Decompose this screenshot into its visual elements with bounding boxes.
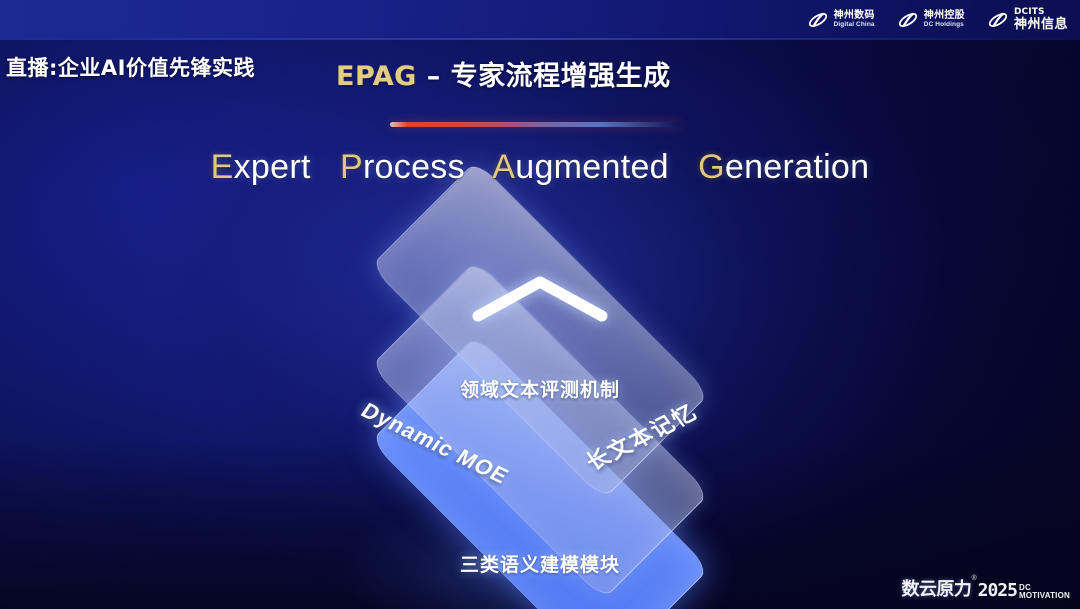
title-chinese: 专家流程增强生成 xyxy=(451,61,671,92)
partner-logo-dc-holdings: 神州控股 DC Holdings xyxy=(897,9,965,31)
watermark-name-cn: 数云原力 xyxy=(901,575,971,601)
subtitle-rest-a: ugmented xyxy=(515,148,669,186)
subtitle-cap-e: E xyxy=(211,148,234,186)
swirl-icon xyxy=(897,9,919,31)
subtitle-word-4: Generation xyxy=(698,148,869,186)
watermark-registered-mark: ® xyxy=(971,575,976,582)
layer-label-top: 领域文本评测机制 xyxy=(460,375,620,402)
watermark-dc-motivation: DC MOTIVATION xyxy=(1019,584,1070,600)
partner-logo-dcits: DCITS 神州信息 xyxy=(987,8,1068,31)
subtitle-cap-g: G xyxy=(698,148,725,186)
page-title: EPAG – 专家流程增强生成 xyxy=(336,54,671,93)
partner-name-en: Digital China xyxy=(834,22,875,29)
title-acronym: EPAG xyxy=(336,61,417,92)
partner-logo-digital-china: 神州数码 Digital China xyxy=(807,9,875,31)
partner-name-cn: 神州信息 xyxy=(1014,18,1068,32)
partner-logo-group: 神州数码 Digital China 神州控股 DC Holdings xyxy=(807,6,1068,34)
chevron-up-icon xyxy=(470,272,610,324)
title-divider xyxy=(390,122,680,127)
slide-canvas: 领域文本评测机制 Dynamic MOE 长文本记忆 三类语义建模模块 Expe… xyxy=(0,0,1080,609)
subtitle-rest-g: eneration xyxy=(725,148,869,186)
partner-logo-text: 神州数码 Digital China xyxy=(834,11,875,28)
subtitle-word-2: Process xyxy=(340,148,465,186)
swirl-icon xyxy=(987,9,1009,31)
subtitle-word-1: Expert xyxy=(211,148,311,186)
subtitle-cap-a: A xyxy=(492,148,515,186)
partner-logo-text: DCITS 神州信息 xyxy=(1014,8,1068,31)
subtitle-space-3 xyxy=(679,148,689,186)
subtitle-rest-p: rocess xyxy=(363,148,465,186)
subtitle-cap-p: P xyxy=(340,148,363,186)
title-separator: – xyxy=(417,61,451,92)
partner-logo-text: 神州控股 DC Holdings xyxy=(924,11,965,28)
subtitle-rest-e: xpert xyxy=(234,148,311,186)
watermark-motivation: MOTIVATION xyxy=(1019,592,1070,600)
partner-name-en: DC Holdings xyxy=(924,22,965,29)
subtitle-space-1 xyxy=(320,148,330,186)
brand-logo-watermark: 数云原力 ® 2025 DC MOTIVATION xyxy=(901,575,1070,601)
subtitle-space-2 xyxy=(475,148,485,186)
swirl-icon xyxy=(807,9,829,31)
subtitle-word-3: Augmented xyxy=(492,148,669,186)
live-stream-tag: 直播:企业AI价值先锋实践 xyxy=(6,52,255,82)
subtitle-epag-expansion: Expert Process Augmented Generation xyxy=(0,148,1080,187)
layer-label-bottom: 三类语义建模模块 xyxy=(460,550,620,577)
watermark-year: 2025 xyxy=(978,580,1017,601)
